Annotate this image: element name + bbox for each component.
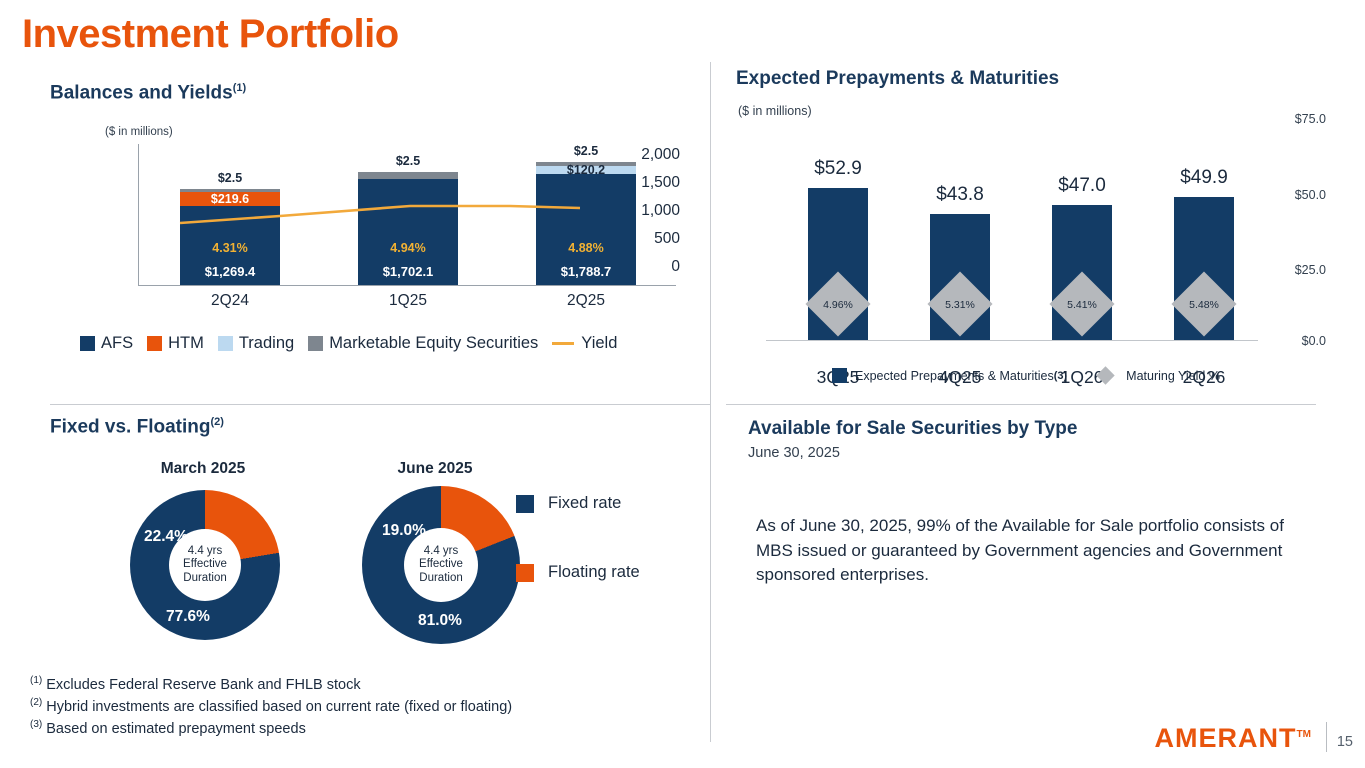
legend-item-afs: AFS: [80, 334, 133, 353]
prepayments-ytick-25: $25.0: [1266, 263, 1326, 277]
balances-label-afs-2q25: $1,788.7: [536, 264, 636, 279]
legend-label-prepayments: Expected Prepayments & Maturities: [855, 369, 1054, 383]
legend-label-floating-rate: Floating rate: [548, 563, 640, 582]
page-number: 15: [1337, 734, 1353, 750]
legend-label-fixed-rate: Fixed rate: [548, 494, 621, 513]
balances-units-label: ($ in millions): [105, 126, 173, 138]
afs-body-text: As of June 30, 2025, 99% of the Availabl…: [756, 514, 1301, 588]
prepayments-ytick-50: $50.0: [1266, 188, 1326, 202]
footnote-1: (1) Excludes Federal Reserve Bank and FH…: [30, 674, 512, 696]
footnote-2-marker: (2): [30, 697, 42, 708]
balances-label-mes-1q25: $2.5: [358, 154, 458, 168]
prepayments-plot-area: $75.0 $50.0 $25.0 $0.0 $52.9 3Q25 $43.8 …: [758, 118, 1326, 398]
balances-label-yield-2q24: 4.31%: [180, 241, 280, 255]
fixed-floating-title-text: Fixed vs. Floating: [50, 416, 210, 437]
balances-label-afs-2q24: $1,269.4: [180, 264, 280, 279]
legend-item-yield: Yield: [552, 334, 617, 353]
legend-item-htm: HTM: [147, 334, 204, 353]
donut-label-june-fixed: 81.0%: [418, 612, 462, 630]
prepayments-x-axis: [766, 340, 1258, 341]
balances-label-htm-2q24: $219.6: [180, 192, 280, 206]
brand-logo: AMERANTTM: [1155, 723, 1311, 754]
panel-expected-prepayments: Expected Prepayments & Maturities ($ in …: [736, 68, 1326, 398]
prepayments-yield-4q25: 5.31%: [932, 299, 988, 311]
donut-hole-june-line1: 4.4 yrs: [424, 545, 459, 558]
panel-afs-by-type: Available for Sale Securities by Type Ju…: [748, 418, 1328, 618]
footnote-3-marker: (3): [30, 719, 42, 730]
balances-legend: AFS HTM Trading Marketable Equity Securi…: [80, 334, 631, 353]
prepayments-yield-3q25: 4.96%: [810, 299, 866, 311]
prepayments-value-1q26: $47.0: [1052, 175, 1112, 197]
footnote-3-text: Based on estimated prepayment speeds: [46, 721, 306, 737]
footnote-2: (2) Hybrid investments are classified ba…: [30, 696, 512, 718]
legend-label-yield: Yield: [581, 334, 617, 353]
footnote-2-text: Hybrid investments are classified based …: [46, 699, 512, 715]
balances-label-yield-1q25: 4.94%: [358, 241, 458, 255]
balances-title-superscript: (1): [233, 82, 246, 94]
legend-label-prepayments-superscript: (3): [1054, 370, 1067, 382]
legend-label-maturing-yield: Maturing Yield %: [1126, 369, 1220, 383]
panel-balances-and-yields: Balances and Yields(1) ($ in millions) 2…: [50, 82, 710, 382]
prepayments-yield-1q26: 5.41%: [1054, 299, 1110, 311]
legend-swatch-trading-icon: [218, 336, 233, 351]
balances-y-axis: [138, 144, 139, 286]
donut-title-june: June 2025: [340, 460, 530, 478]
legend-swatch-prepayments-icon: [832, 368, 847, 383]
legend-item-trading: Trading: [218, 334, 294, 353]
balances-label-afs-1q25: $1,702.1: [358, 264, 458, 279]
balances-segment-afs-2q25: $1,788.7: [536, 174, 636, 285]
slide-root: Investment Portfolio Balances and Yields…: [0, 0, 1365, 768]
prepayments-value-2q26: $49.9: [1174, 167, 1234, 189]
fixed-floating-legend: Fixed rate Floating rate: [516, 494, 640, 632]
donut-hole-march-line2: Effective: [183, 558, 227, 571]
legend-label-mes: Marketable Equity Securities: [329, 334, 538, 353]
brand-logo-text: AMERANT: [1155, 723, 1297, 753]
legend-swatch-floating-rate-icon: [516, 564, 534, 582]
balances-plot-area: 2,000 1,500 1,000 500 0 $1,269.4 $219.6 …: [80, 144, 680, 364]
balances-xtick-2q24: 2Q24: [180, 292, 280, 310]
balances-x-axis: [138, 285, 676, 286]
donut-hole-march-line1: 4.4 yrs: [188, 545, 223, 558]
prepayments-value-3q25: $52.9: [808, 158, 868, 180]
legend-item-expected-prepayments: Expected Prepayments & Maturities(3): [832, 368, 1067, 383]
prepayments-ytick-0: $0.0: [1266, 334, 1326, 348]
balances-segment-afs-1q25: $1,702.1: [358, 179, 458, 285]
balances-title: Balances and Yields(1): [50, 82, 246, 104]
legend-label-trading: Trading: [239, 334, 294, 353]
legend-line-yield-icon: [552, 342, 574, 345]
horizontal-divider-left: [50, 404, 710, 405]
balances-label-yield-2q25: 4.88%: [536, 241, 636, 255]
donut-hole-march-line3: Duration: [183, 572, 226, 585]
legend-label-afs: AFS: [101, 334, 133, 353]
donut-label-march-floating: 22.4%: [144, 528, 188, 546]
vertical-divider: [710, 62, 711, 742]
panel-fixed-vs-floating: Fixed vs. Floating(2) March 2025 4.4 yrs…: [50, 416, 710, 676]
legend-item-marketable-equity-securities: Marketable Equity Securities: [308, 334, 538, 353]
donut-label-march-fixed: 77.6%: [166, 608, 210, 626]
afs-title: Available for Sale Securities by Type: [748, 418, 1077, 440]
balances-segment-mes-2q24: [180, 189, 280, 192]
prepayments-title: Expected Prepayments & Maturities: [736, 68, 1059, 90]
donut-hole-june-line2: Effective: [419, 558, 463, 571]
donut-hole-june-line3: Duration: [419, 572, 462, 585]
prepayments-ytick-75: $75.0: [1266, 112, 1326, 126]
legend-swatch-htm-icon: [147, 336, 162, 351]
donut-chart-march-2025: 4.4 yrs Effective Duration 22.4% 77.6%: [130, 490, 280, 640]
prepayments-value-4q25: $43.8: [930, 184, 990, 206]
horizontal-divider-right: [726, 404, 1316, 405]
legend-swatch-afs-icon: [80, 336, 95, 351]
legend-item-floating-rate: Floating rate: [516, 563, 640, 582]
afs-date: June 30, 2025: [748, 445, 840, 461]
legend-swatch-fixed-rate-icon: [516, 495, 534, 513]
balances-xtick-1q25: 1Q25: [358, 292, 458, 310]
balances-label-mes-2q25: $2.5: [536, 144, 636, 158]
footer-divider: [1326, 722, 1327, 752]
balances-label-trading-2q25: $120.2: [536, 163, 636, 177]
donut-chart-june-2025: 4.4 yrs Effective Duration 19.0% 81.0%: [362, 486, 520, 644]
balances-label-mes-2q24: $2.5: [180, 171, 280, 185]
footnotes: (1) Excludes Federal Reserve Bank and FH…: [30, 674, 512, 740]
prepayments-legend: Expected Prepayments & Maturities(3) Mat…: [832, 368, 1248, 383]
legend-item-fixed-rate: Fixed rate: [516, 494, 640, 513]
footnote-1-text: Excludes Federal Reserve Bank and FHLB s…: [46, 677, 360, 693]
fixed-floating-title-superscript: (2): [210, 416, 223, 428]
prepayments-yield-2q26: 5.48%: [1176, 299, 1232, 311]
legend-diamond-maturing-yield-icon: [1096, 366, 1114, 384]
donut-title-march: March 2025: [108, 460, 298, 478]
legend-swatch-mes-icon: [308, 336, 323, 351]
footnote-1-marker: (1): [30, 675, 42, 686]
footnote-3: (3) Based on estimated prepayment speeds: [30, 718, 512, 740]
legend-label-htm: HTM: [168, 334, 204, 353]
balances-segment-htm-2q24: $219.6: [180, 192, 280, 206]
balances-xtick-2q25: 2Q25: [536, 292, 636, 310]
balances-segment-mes-1q25: [358, 172, 458, 179]
prepayments-units-label: ($ in millions): [738, 104, 812, 118]
brand-trademark: TM: [1297, 729, 1311, 740]
legend-item-maturing-yield: Maturing Yield %: [1095, 369, 1220, 383]
page-title: Investment Portfolio: [22, 12, 399, 57]
donut-label-june-floating: 19.0%: [382, 522, 426, 540]
balances-title-text: Balances and Yields: [50, 82, 233, 103]
fixed-floating-title: Fixed vs. Floating(2): [50, 416, 224, 438]
